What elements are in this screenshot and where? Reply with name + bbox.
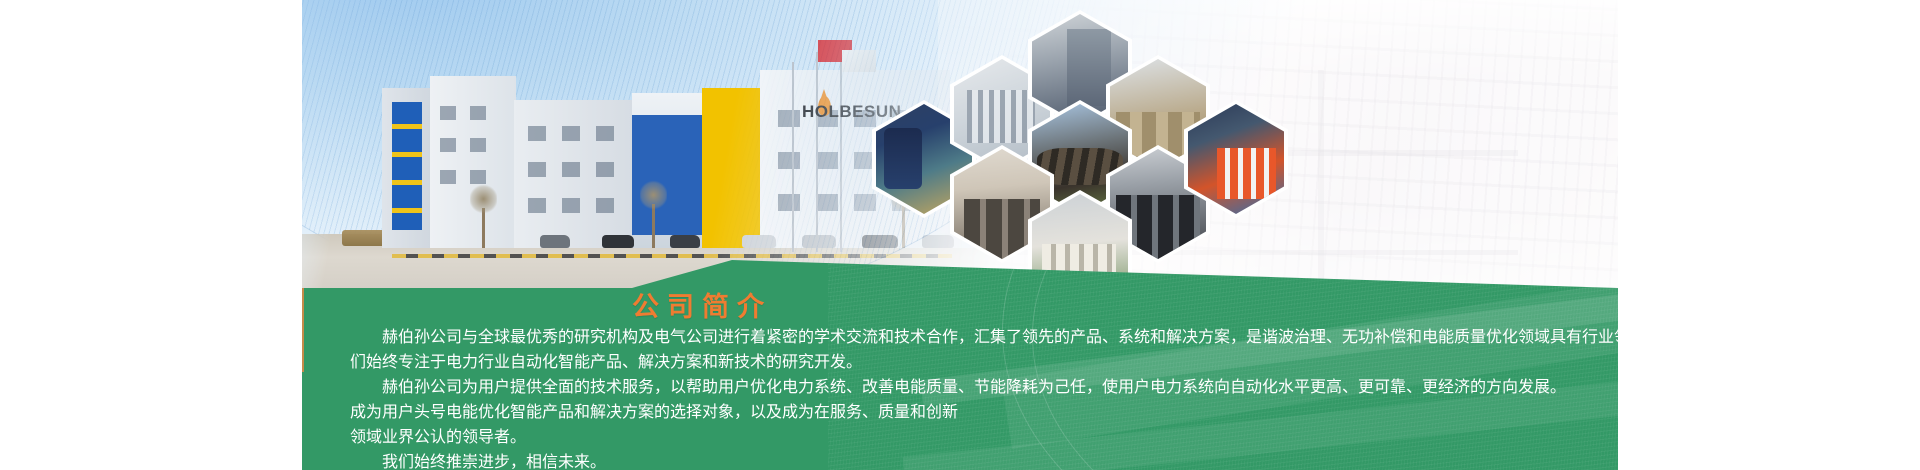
car: [670, 235, 700, 248]
building-block-yellow: [702, 88, 762, 248]
flagpole-center: [816, 52, 818, 252]
band-left-accent: [302, 288, 304, 372]
building-block-c: [514, 100, 634, 248]
intro-paragraph-line: 成为用户头号电能优化智能产品和解决方案的选择对象，以及成为在服务、质量和创新: [350, 400, 1594, 425]
car: [602, 235, 634, 248]
company-intro-band: 公司简介 赫伯孙公司与全球最优秀的研究机构及电气公司进行着紧密的学术交流和技术合…: [302, 260, 1618, 470]
page-root: HOLBESUN: [0, 0, 1920, 470]
building-block-d: [632, 93, 706, 248]
building-block-b: [430, 76, 516, 248]
intro-paragraph-line: 们始终专注于电力行业自动化智能产品、解决方案和新技术的研究开发。: [350, 350, 1594, 375]
company-intro-text: 赫伯孙公司与全球最优秀的研究机构及电气公司进行着紧密的学术交流和技术合作，汇集了…: [350, 325, 1594, 470]
intro-paragraph-line: 赫伯孙公司为用户提供全面的技术服务，以帮助用户优化电力系统、改善电能质量、节能降…: [350, 375, 1594, 400]
section-title: 公司简介: [632, 285, 772, 324]
hexagon-photo-gallery: [862, 10, 1422, 310]
tree: [652, 204, 655, 248]
flagpole-left: [792, 62, 794, 252]
company-intro-banner: HOLBESUN: [302, 0, 1618, 470]
intro-paragraph-line: 赫伯孙公司与全球最优秀的研究机构及电气公司进行着紧密的学术交流和技术合作，汇集了…: [350, 325, 1594, 350]
car: [802, 235, 836, 248]
intro-paragraph-line: 我们始终推崇进步，相信未来。: [350, 450, 1594, 470]
intro-paragraph-line: 领域业界公认的领导者。: [350, 425, 1594, 450]
car: [540, 235, 570, 248]
building-block-a: [382, 88, 434, 248]
tree: [482, 208, 485, 248]
flagpole-right: [840, 62, 842, 252]
car: [742, 235, 776, 248]
